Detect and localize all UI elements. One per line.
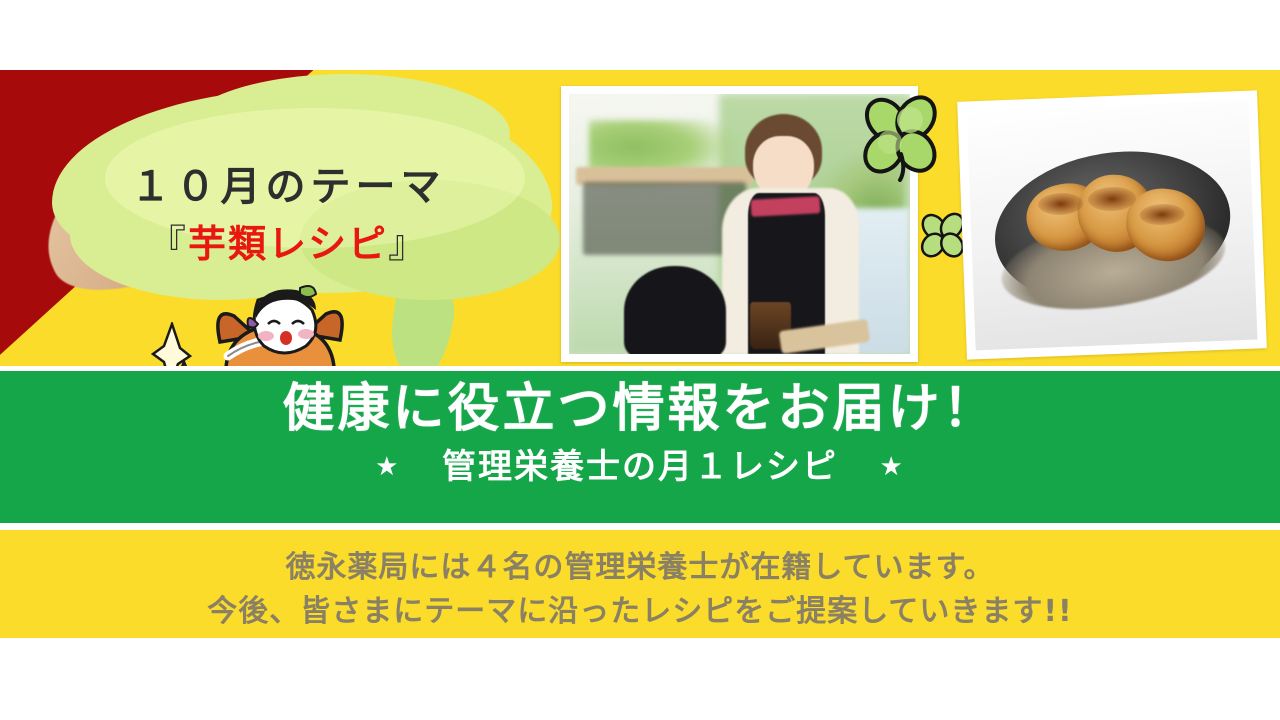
- theme-month-label: １０月のテーマ: [118, 167, 458, 207]
- green-banner-headline: 健康に役立つ情報をお届け！: [0, 383, 1280, 435]
- shiba-mascot-icon: [196, 284, 376, 366]
- divider-white-bottom: [0, 523, 1280, 530]
- bottom-banner-text: 徳永薬局には４名の管理栄養士が在籍しています。 今後、皆さまにテーマに沿ったレシ…: [0, 546, 1280, 633]
- green-banner: 健康に役立つ情報をお届け！ ★ 管理栄養士の月１レシピ ★: [0, 371, 1280, 523]
- bottom-banner-line-2: 今後、皆さまにテーマに沿ったレシピをご提案していきます!!: [0, 590, 1280, 634]
- green-banner-subtitle: ★ 管理栄養士の月１レシピ ★: [0, 447, 1280, 488]
- bottom-banner-line-1: 徳永薬局には４名の管理栄養士が在籍しています。: [0, 546, 1280, 590]
- quote-open: 『: [148, 222, 188, 266]
- clover-icon-small: [918, 212, 968, 262]
- star-icon-right: ★: [880, 452, 905, 482]
- shiba-mascot: [196, 284, 376, 366]
- hero-section: １０月のテーマ 『芋類レシピ』: [0, 70, 1280, 366]
- star-icon-left: ★: [375, 452, 400, 482]
- banner-root: １０月のテーマ 『芋類レシピ』: [0, 0, 1280, 720]
- theme-title: 『芋類レシピ』: [118, 225, 458, 263]
- bottom-banner: 徳永薬局には４名の管理栄養士が在籍しています。 今後、皆さまにテーマに沿ったレシ…: [0, 530, 1280, 638]
- green-banner-subtitle-text: 管理栄養士の月１レシピ: [442, 447, 838, 487]
- theme-name: 芋類レシピ: [188, 222, 388, 266]
- clover-icon: [858, 94, 944, 182]
- recipe-food-photo: [957, 90, 1267, 359]
- recipe-food-photo-image: [966, 100, 1257, 351]
- quote-close: 』: [388, 222, 428, 266]
